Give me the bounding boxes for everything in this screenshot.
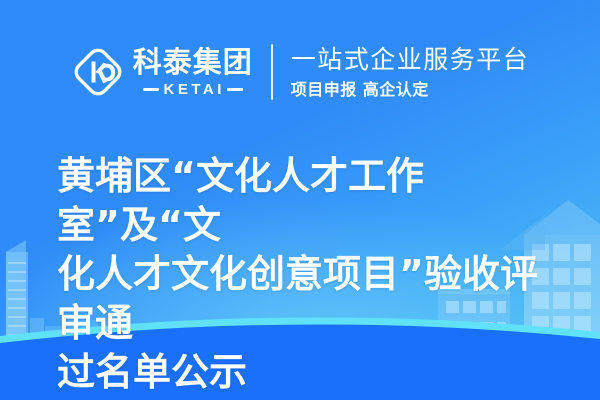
brand-lockup: 科泰集团 KETAI xyxy=(71,45,253,99)
brand-name-en-row: KETAI xyxy=(143,82,243,97)
tagline-primary: 一站式企业服务平台 xyxy=(291,46,530,75)
wordmark-dash-right xyxy=(227,88,243,91)
wordmark-dash-left xyxy=(143,88,159,91)
brand-name-en: KETAI xyxy=(164,82,225,97)
brand-wordmark: 科泰集团 KETAI xyxy=(133,48,253,97)
tagline-block: 一站式企业服务平台 项目申报 高企认定 xyxy=(291,46,530,98)
tagline-secondary: 项目申报 高企认定 xyxy=(291,81,530,99)
brand-name-cn: 科泰集团 xyxy=(133,48,253,77)
ketai-diamond-logo-icon xyxy=(71,45,125,99)
page-title-line: 化人才文化创意项目”验收评审通 xyxy=(57,250,557,348)
promo-banner: 科泰集团 KETAI 一站式企业服务平台 项目申报 高企认定 黄埔区“文化人才工… xyxy=(0,0,600,400)
page-title-line: 黄埔区“文化人才工作室”及“文 xyxy=(57,152,557,250)
page-title-line: 过名单公示 xyxy=(57,348,557,397)
banner-header: 科泰集团 KETAI 一站式企业服务平台 项目申报 高企认定 xyxy=(0,36,600,108)
page-title: 黄埔区“文化人才工作室”及“文 化人才文化创意项目”验收评审通 过名单公示 xyxy=(57,152,557,397)
header-divider xyxy=(271,44,273,100)
